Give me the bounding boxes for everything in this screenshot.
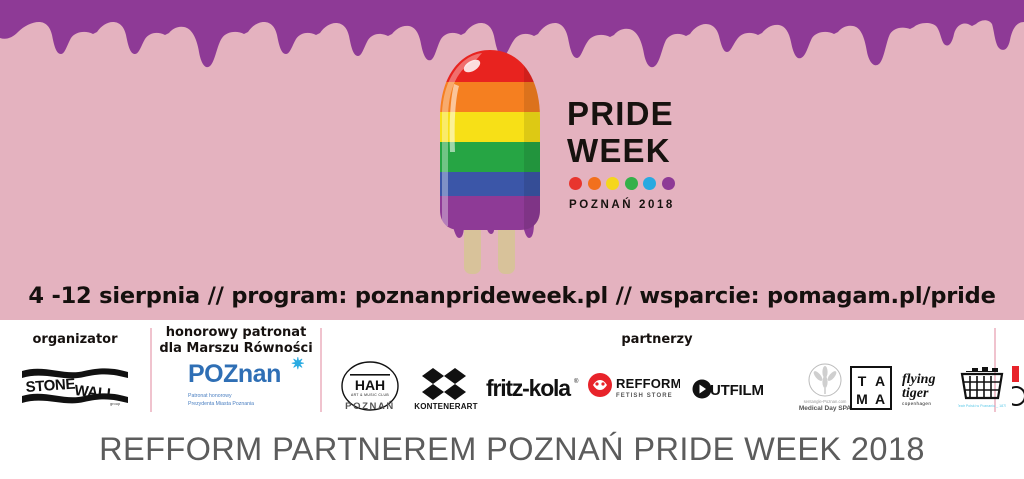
dot-purple bbox=[662, 177, 675, 190]
svg-text:POZNAŃ: POZNAŃ bbox=[345, 401, 395, 412]
rainbow-dots bbox=[569, 177, 697, 190]
dot-orange bbox=[588, 177, 601, 190]
hero-section: PRIDE WEEK POZNAŃ 2018 4 -12 sierpnia //… bbox=[0, 0, 1024, 320]
svg-text:HAH: HAH bbox=[355, 377, 385, 393]
star-icon: ✷ bbox=[291, 354, 304, 374]
dot-yellow bbox=[606, 177, 619, 190]
svg-text:Teatr Polski w Poznaniu _ 1875: Teatr Polski w Poznaniu _ 1875 bbox=[958, 404, 1006, 408]
poznan-logo[interactable]: POZnan ✷ Patronat honorowy Prezydenta Mi… bbox=[188, 360, 298, 408]
svg-text:A: A bbox=[875, 391, 885, 407]
poznan-logo-label: POZnan bbox=[188, 360, 281, 388]
logo-line-pride: PRIDE bbox=[567, 98, 697, 129]
svg-text:copenhagen: copenhagen bbox=[902, 401, 931, 406]
flying-tiger-logo[interactable]: flying tiger copenhagen bbox=[898, 366, 956, 412]
fritz-kola-logo[interactable]: fritz-kola ® bbox=[486, 372, 582, 406]
partner-cut-logo[interactable] bbox=[1012, 364, 1024, 412]
hah-poznan-logo[interactable]: HAH ART & MUSIC CLUB POZNAŃ bbox=[338, 360, 402, 412]
logo-subtitle: POZNAŃ 2018 bbox=[569, 199, 697, 211]
stonewall-logo[interactable]: STONE WALL group bbox=[18, 362, 132, 406]
teatr-polski-logo[interactable]: Teatr Polski w Poznaniu _ 1875 bbox=[958, 362, 1006, 412]
logo-line-week: WEEK bbox=[567, 135, 697, 166]
banner-headline: REFFORM PARTNEREM POZNAŃ PRIDE WEEK 2018 bbox=[99, 431, 925, 468]
svg-text:FETISH STORE: FETISH STORE bbox=[616, 393, 673, 399]
dot-blue bbox=[643, 177, 656, 190]
svg-text:group: group bbox=[110, 401, 121, 406]
dot-red bbox=[569, 177, 582, 190]
poznan-sub-line1: Patronat honorowy bbox=[188, 393, 298, 401]
patronat-heading: honorowy patronat dla Marszu Równości bbox=[152, 325, 320, 358]
svg-text:UTFILM: UTFILM bbox=[710, 382, 764, 399]
svg-text:KONTENERART: KONTENERART bbox=[414, 402, 478, 411]
sponsor-bar: organizator honorowy patronat dla Marszu… bbox=[0, 320, 1024, 420]
tama-logo[interactable]: T A M A bbox=[848, 364, 894, 412]
dot-green bbox=[625, 177, 638, 190]
svg-text:Medical Day SPA: Medical Day SPA bbox=[799, 405, 852, 412]
patronat-heading-line1: honorowy patronat bbox=[152, 325, 320, 341]
svg-text:A: A bbox=[875, 373, 885, 389]
bottom-banner: REFFORM PARTNEREM POZNAŃ PRIDE WEEK 2018 bbox=[0, 420, 1024, 479]
svg-text:sentangle-Poznan.com: sentangle-Poznan.com bbox=[804, 399, 847, 404]
svg-text:flying: flying bbox=[902, 372, 935, 387]
svg-text:fritz-kola: fritz-kola bbox=[486, 375, 571, 401]
svg-text:ART & MUSIC CLUB: ART & MUSIC CLUB bbox=[351, 393, 389, 397]
refform-logo[interactable]: REFFORM FETISH STORE bbox=[588, 372, 680, 404]
poznan-logo-subtext: Patronat honorowy Prezydenta Miasta Pozn… bbox=[188, 393, 298, 409]
kontenerart-logo[interactable]: KONTENERART bbox=[410, 364, 482, 412]
organizator-heading: organizator bbox=[0, 332, 150, 348]
pride-week-logo: PRIDE WEEK POZNAŃ 2018 bbox=[567, 98, 697, 211]
event-tagline: 4 -12 sierpnia // program: poznanpridewe… bbox=[0, 283, 1024, 309]
svg-text:®: ® bbox=[574, 378, 579, 385]
svg-text:M: M bbox=[856, 391, 868, 407]
rainbow-popsicle-illustration bbox=[420, 40, 560, 280]
svg-text:tiger: tiger bbox=[902, 386, 929, 401]
partnerzy-heading: partnerzy bbox=[320, 332, 994, 348]
svg-text:STONE: STONE bbox=[25, 376, 76, 396]
svg-text:T: T bbox=[858, 373, 867, 389]
pride-week-poster: PRIDE WEEK POZNAŃ 2018 4 -12 sierpnia //… bbox=[0, 0, 1024, 479]
poznan-sub-line2: Prezydenta Miasta Poznania bbox=[188, 401, 298, 409]
svg-text:REFFORM: REFFORM bbox=[616, 376, 680, 391]
poznan-logo-text: POZnan ✷ bbox=[188, 360, 298, 389]
outfilm-logo[interactable]: UTFILM bbox=[692, 376, 774, 402]
